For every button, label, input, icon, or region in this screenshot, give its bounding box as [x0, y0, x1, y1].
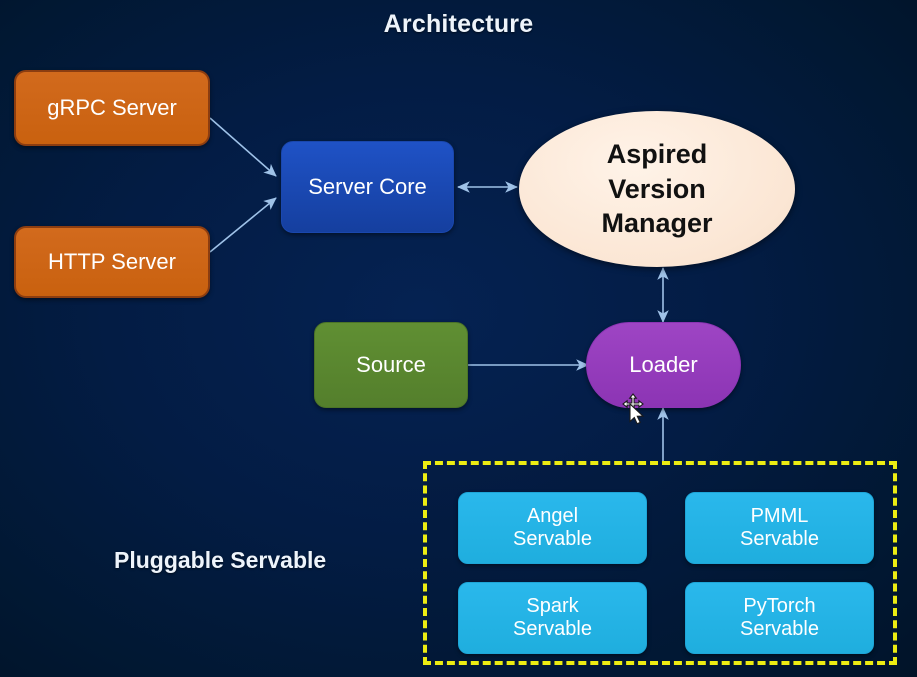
servable-pmml[interactable]: PMML Servable [685, 492, 874, 564]
servable-pytorch[interactable]: PyTorch Servable [685, 582, 874, 654]
servable-pytorch-line2: Servable [740, 618, 819, 641]
edge-http-to-server-core [210, 198, 276, 252]
page-title: Architecture [0, 10, 917, 39]
node-http-server[interactable]: HTTP Server [14, 226, 210, 298]
servable-pmml-line1: PMML [751, 505, 809, 528]
node-http-server-label: HTTP Server [48, 249, 176, 275]
node-server-core[interactable]: Server Core [281, 141, 454, 233]
node-grpc-server-label: gRPC Server [47, 95, 177, 121]
servable-spark[interactable]: Spark Servable [458, 582, 647, 654]
node-source[interactable]: Source [314, 322, 468, 408]
servable-pmml-line2: Servable [740, 528, 819, 551]
servable-pytorch-line1: PyTorch [743, 595, 815, 618]
servable-angel-line1: Angel [527, 505, 578, 528]
node-version-manager-line3: Manager [601, 206, 712, 241]
node-server-core-label: Server Core [308, 174, 427, 200]
servable-angel[interactable]: Angel Servable [458, 492, 647, 564]
node-source-label: Source [356, 352, 426, 378]
node-version-manager-line2: Version [608, 172, 706, 207]
node-grpc-server[interactable]: gRPC Server [14, 70, 210, 146]
servable-spark-line2: Servable [513, 618, 592, 641]
pluggable-servable-region[interactable]: Angel Servable PMML Servable Spark Serva… [423, 461, 897, 665]
node-aspired-version-manager[interactable]: Aspired Version Manager [519, 111, 795, 267]
servable-angel-line2: Servable [513, 528, 592, 551]
architecture-slide: Architecture gRPC Server HTTP Server [0, 0, 917, 677]
node-loader[interactable]: Loader [586, 322, 741, 408]
node-loader-label: Loader [629, 352, 698, 378]
edge-grpc-to-server-core [210, 118, 276, 176]
servable-spark-line1: Spark [526, 595, 578, 618]
pluggable-servable-label: Pluggable Servable [114, 547, 326, 574]
node-version-manager-line1: Aspired [607, 137, 708, 172]
